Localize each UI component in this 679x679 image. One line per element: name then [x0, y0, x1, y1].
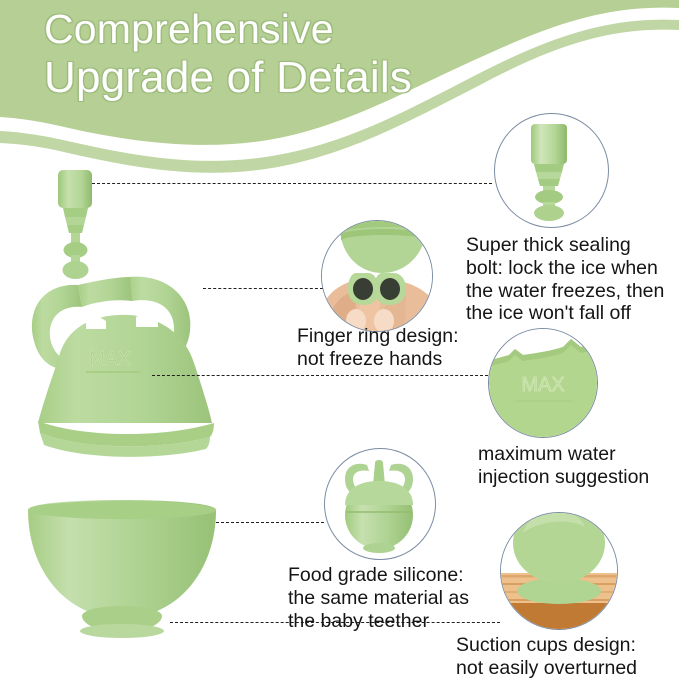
- mold-top-half: [345, 481, 413, 505]
- finger-ring-hole-left: [353, 278, 373, 300]
- hand-holding-mold-icon: [322, 221, 432, 331]
- silicone-ice-mold-icon: [325, 449, 435, 559]
- bolt-ridge-2: [536, 172, 562, 179]
- mold-base: [363, 543, 395, 553]
- bolt-ridge-3: [67, 225, 84, 233]
- caption-finger-ring: Finger ring design: not freeze hands: [297, 325, 517, 371]
- bolt-head: [531, 124, 567, 164]
- connector-max: [152, 375, 488, 376]
- ice-pop-sealing-bolt-icon: [495, 114, 608, 227]
- callout-food-grade-silicone: [324, 448, 436, 560]
- caption-food-grade-silicone: Food grade silicone: the same material a…: [288, 564, 503, 632]
- lid-notch-right: [136, 311, 158, 327]
- title-line-1: Comprehensive: [44, 6, 334, 52]
- bowl-rim: [28, 501, 216, 519]
- suction-cup-on-wood-icon: [501, 513, 617, 629]
- handle-bridge: [78, 277, 132, 307]
- caption-max-line: maximum water injection suggestion: [478, 443, 678, 489]
- bolt-ridge-3: [538, 179, 560, 186]
- page-title: Comprehensive Upgrade of Details: [44, 8, 604, 101]
- connector-bolt: [92, 183, 492, 184]
- title-line-2: Upgrade of Details: [44, 54, 604, 101]
- connector-silicone: [216, 522, 324, 523]
- finger-ring-hole-right: [380, 278, 400, 300]
- bolt-ridge-2: [65, 217, 86, 225]
- bolt-ridge-1: [534, 164, 564, 172]
- bolt-collar: [535, 190, 563, 204]
- product-lid-with-bolt: MAX: [18, 165, 248, 455]
- bolt-tip: [534, 205, 564, 221]
- callout-suction-cup: [500, 512, 618, 630]
- max-emboss-label: MAX: [521, 374, 564, 396]
- product-bowl: [22, 498, 222, 648]
- connector-finger-ring: [203, 288, 323, 289]
- bolt-tip: [63, 261, 89, 279]
- max-emboss-label: MAX: [89, 349, 131, 370]
- caption-suction-cup: Suction cups design: not easily overturn…: [456, 634, 679, 679]
- product-infographic: Comprehensive Upgrade of Details: [0, 0, 679, 679]
- wood-board-edge: [501, 603, 617, 629]
- callout-finger-ring: [321, 220, 433, 332]
- bolt-head: [58, 170, 92, 208]
- bowl-suction-foot: [80, 624, 164, 638]
- caption-sealing-bolt: Super thick sealing bolt: lock the ice w…: [466, 234, 676, 325]
- callout-sealing-bolt: [494, 113, 609, 228]
- bolt-ridge-1: [63, 208, 88, 217]
